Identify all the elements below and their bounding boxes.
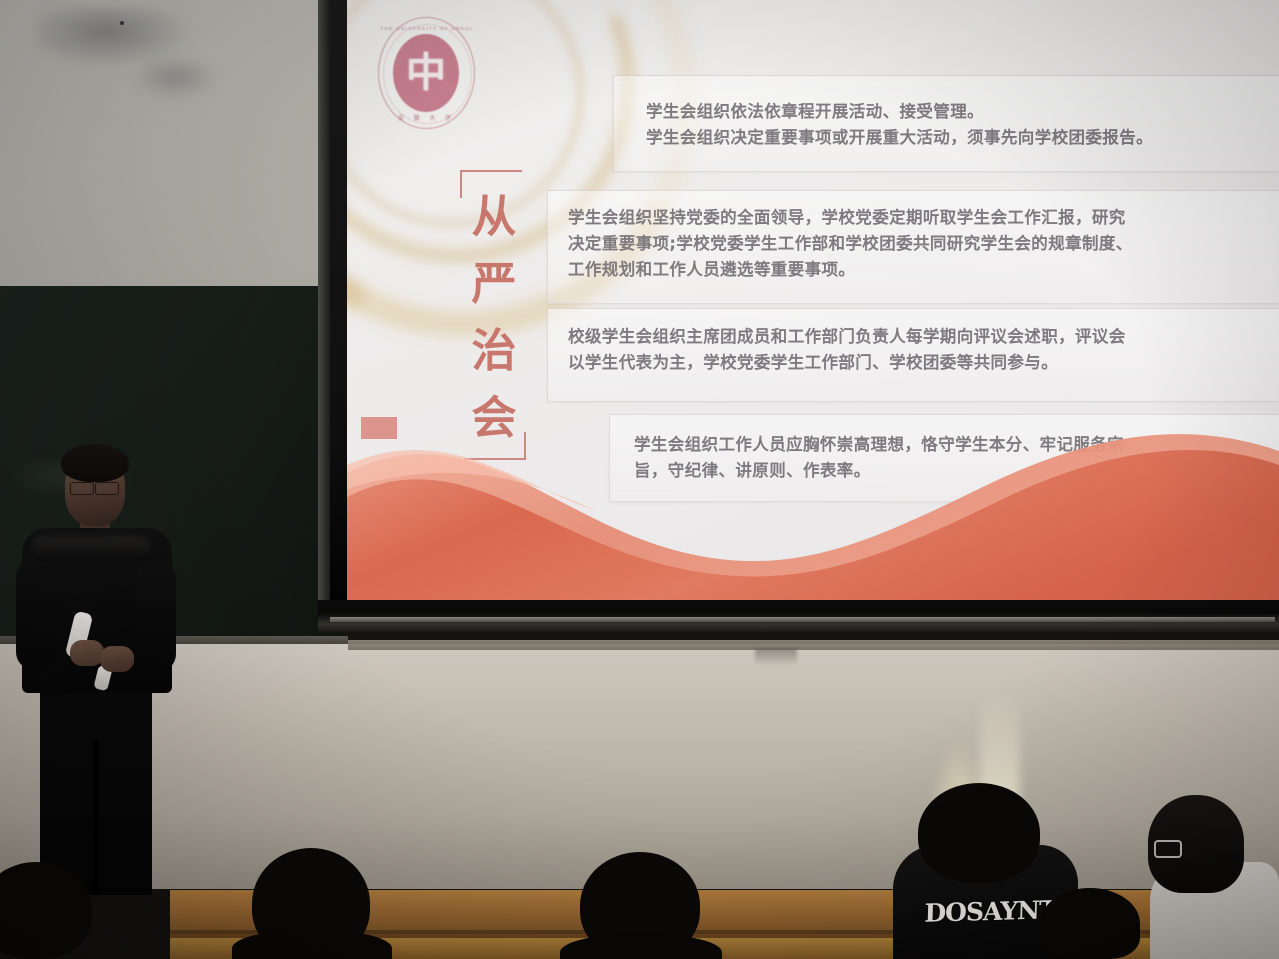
presenter-hair [61,444,129,482]
screen-frame-edge [318,0,330,632]
university-seal-logo: THE UNIVERSITY OF ANHUI 中 安 徽 大 学 [378,17,475,129]
red-wave-graphic [347,393,1279,603]
wall-smudge-secondary [130,55,220,100]
wall-nail-dot [120,21,124,25]
seal-disc: 中 [393,34,459,112]
card-line: 决定重要事项;学校党委学生工作部和学校团委共同研究学生会的规章制度、 [568,231,1279,257]
title-char-2: 严 [471,261,516,306]
seal-ring-text-top: THE UNIVERSITY OF ANHUI [379,26,474,31]
title-char-3: 治 [471,328,516,373]
presenter-right-arm [136,560,176,672]
student-glasses-icon [1154,840,1182,858]
student-shoulders [232,930,392,959]
classroom-scene: THE UNIVERSITY OF ANHUI 中 安 徽 大 学 从 严 治 … [0,0,1279,959]
card-line: 学生会组织决定重要事项或开展重大活动，须事先向学校团委报告。 [646,125,1279,151]
card-line: 工作规划和工作人员遴选等重要事项。 [568,257,1279,283]
wall-trim [348,640,1279,650]
presenter-left-arm [16,560,56,670]
slide-text-card: 校级学生会组织主席团成员和工作部门负责人每学期向评议会述职，评议会 以学生代表为… [547,308,1279,402]
screen-bottom-frame [318,600,1279,632]
card-line: 学生会组织依法依章程开展活动、接受管理。 [646,99,1279,125]
slide-text-card: 学生会组织依法依章程开展活动、接受管理。 学生会组织决定重要事项或开展重大活动，… [613,75,1279,172]
presenter-right-hand [100,646,134,672]
presenter-left-hand [70,640,104,666]
upper-wall [0,0,345,288]
seal-character: 中 [393,34,459,112]
card-line: 学生会组织坚持党委的全面领导，学校党委定期听取学生会工作汇报，研究 [568,205,1279,231]
slide-text-card: 学生会组织坚持党委的全面领导，学校党委定期听取学生会工作汇报，研究 决定重要事项… [547,190,1279,304]
presenter [10,440,185,900]
presentation-slide: THE UNIVERSITY OF ANHUI 中 安 徽 大 学 从 严 治 … [347,0,1279,603]
wall-mark [755,648,797,666]
presenter-glasses-right-lens [95,482,119,495]
card-line: 以学生代表为主，学校党委学生工作部门、学校团委等共同参与。 [568,350,1279,376]
seal-ring-text-bottom: 安 徽 大 学 [379,113,474,122]
presenter-shoulder-highlight [32,536,150,558]
presenter-glasses-left-lens [70,482,94,495]
student-head [918,783,1040,883]
student-head [1040,888,1140,959]
presenter-leg-gap [93,740,98,895]
card-line: 校级学生会组织主席团成员和工作部门负责人每学期向评议会述职，评议会 [568,324,1279,350]
title-char-1: 从 [471,194,516,239]
screen-bottom-highlight [330,617,1275,622]
